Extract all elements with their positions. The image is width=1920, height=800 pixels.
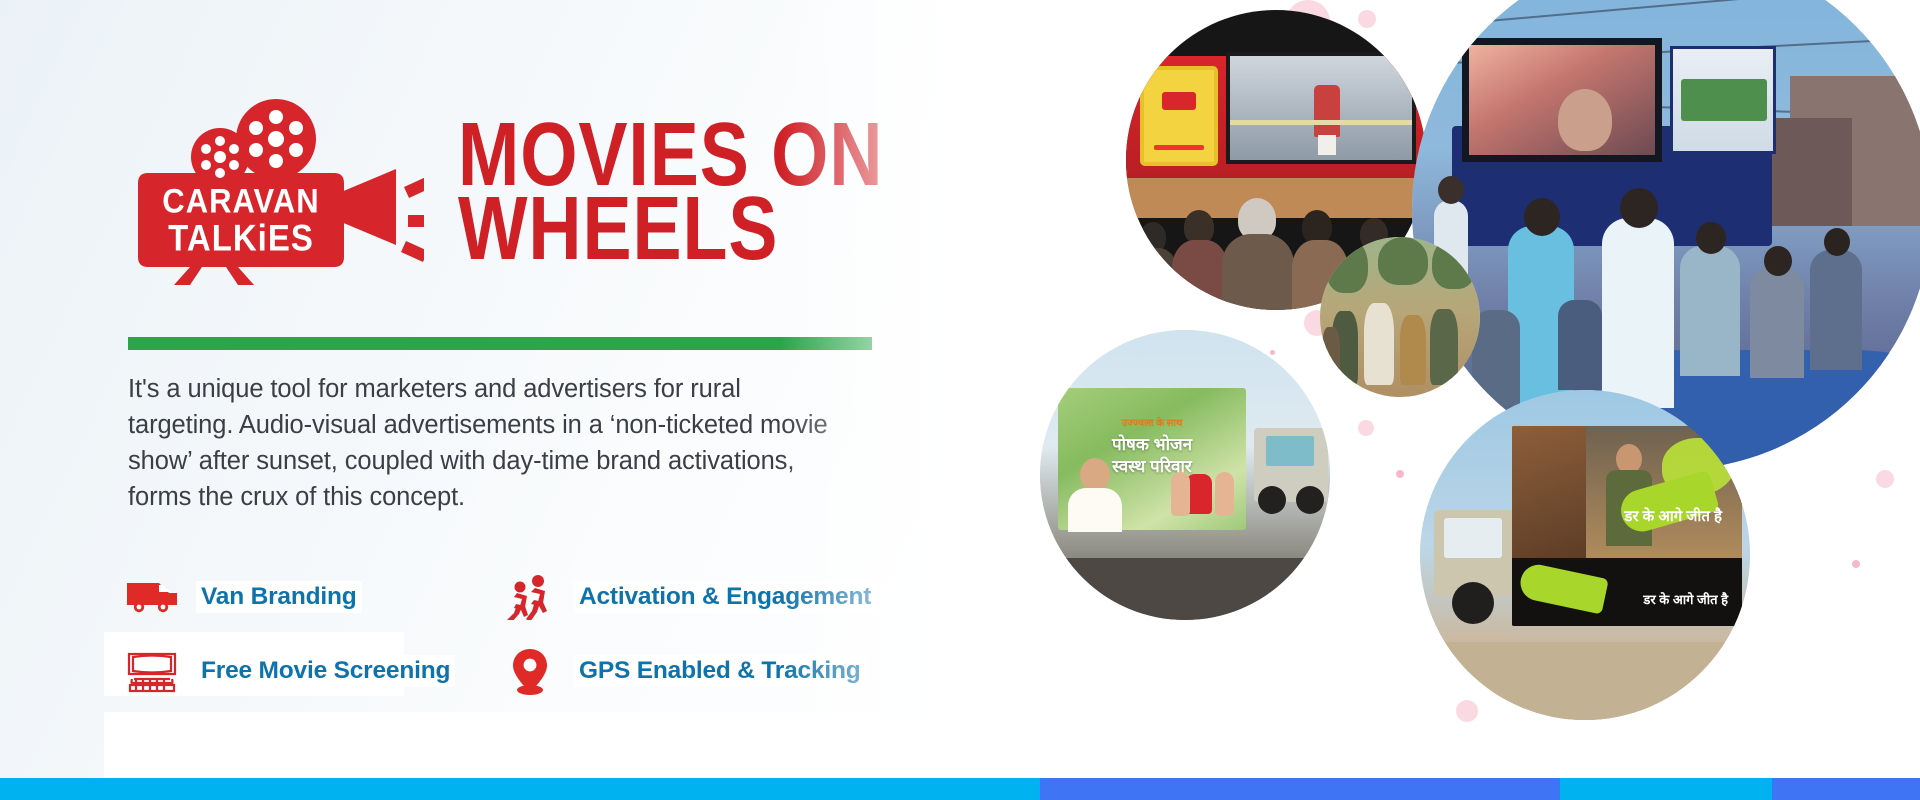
van-icon	[124, 572, 180, 622]
feature-list: Van Branding Activation & Engagem	[124, 560, 880, 708]
feature-label: GPS Enabled & Tracking	[574, 655, 866, 687]
van-poster-hindi-small: उज्ज्वला के साथ	[1122, 415, 1183, 429]
cinema-screen-icon	[124, 646, 180, 696]
caravan-talkies-logo: CARAVAN TALKiES	[128, 95, 424, 285]
feature-label: Van Branding	[196, 581, 362, 613]
bottom-bar-cyan-accent	[1560, 778, 1772, 800]
feature-activation-engagement[interactable]: Activation & Engagement	[502, 560, 880, 634]
decor-dot	[1358, 420, 1374, 436]
page-title: MOVIES ON WHEELS	[458, 114, 920, 267]
map-pin-icon	[502, 646, 558, 696]
running-people-icon	[502, 572, 558, 622]
header-row: CARAVAN TALKiES MOVIES ON WHEELS	[128, 95, 920, 285]
dew-poster-tagline-bottom: डर के आगे जीत है	[1643, 590, 1728, 608]
feature-label: Activation & Engagement	[574, 581, 876, 613]
decor-dot	[1852, 560, 1860, 568]
feature-gps-tracking[interactable]: GPS Enabled & Tracking	[502, 634, 880, 708]
feature-van-branding[interactable]: Van Branding	[124, 560, 502, 634]
lead-paragraph: It's a unique tool for marketers and adv…	[128, 372, 848, 516]
green-divider	[128, 337, 872, 350]
photo-village-activation	[1320, 237, 1480, 397]
feature-label: Free Movie Screening	[196, 655, 455, 687]
bottom-bar-blue	[1040, 778, 1920, 800]
left-content-panel: CARAVAN TALKiES MOVIES ON WHEELS It's a …	[0, 0, 1040, 800]
title-line-2: WHEELS	[458, 188, 883, 271]
photo-collage: उज्ज्वला के साथ पोषक भोजन स्वस्थ परिवार	[1040, 0, 1920, 800]
bottom-bar-cyan	[0, 778, 1040, 800]
decor-dot	[1396, 470, 1404, 478]
photo-ujjwala-green-van: उज्ज्वला के साथ पोषक भोजन स्वस्थ परिवार	[1040, 330, 1330, 620]
photo-mountain-dew-van: डर के आगे जीत है डर के आगे जीत है	[1420, 390, 1750, 720]
decor-dot	[1876, 470, 1894, 488]
logo-word-caravan: CARAVAN	[162, 181, 319, 220]
van-poster-hindi-line1: पोषक भोजन	[1112, 432, 1192, 455]
feature-free-movie-screening[interactable]: Free Movie Screening	[124, 634, 502, 708]
logo-word-talkies: TALKiES	[168, 218, 314, 259]
dew-poster-tagline-top: डर के आगे जीत है	[1624, 506, 1722, 526]
slide-root: CARAVAN TALKiES MOVIES ON WHEELS It's a …	[0, 0, 1920, 800]
